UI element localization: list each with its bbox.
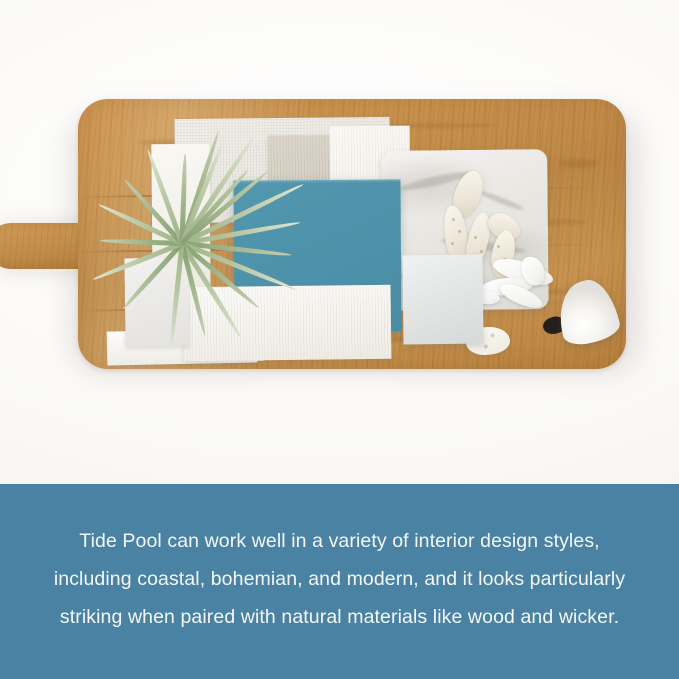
coral-pore [452, 218, 455, 221]
coral-pore [458, 230, 461, 233]
coral-pore [451, 242, 454, 245]
caption-banner: Tide Pool can work well in a variety of … [0, 484, 679, 679]
coral-pore [480, 250, 483, 253]
plant-leaf [92, 241, 183, 282]
air-plant [80, 96, 350, 346]
wood-grain [558, 159, 598, 168]
coral-pore [474, 236, 477, 239]
screenshot-root: Tide Pool can work well in a variety of … [0, 0, 679, 679]
plant-leaf [123, 178, 184, 245]
product-photo [0, 0, 679, 484]
caption-text: Tide Pool can work well in a variety of … [40, 522, 640, 642]
marble-vein [478, 189, 525, 212]
grey-tile-sample [402, 255, 483, 345]
coral-pore [497, 245, 500, 248]
